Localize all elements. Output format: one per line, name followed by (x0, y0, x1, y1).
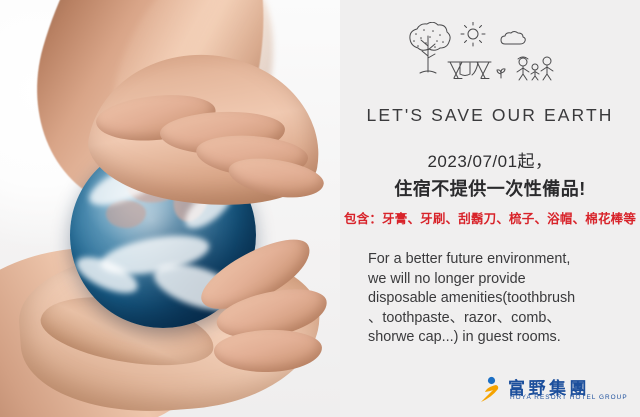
sun-icon (461, 22, 485, 46)
english-line: disposable amenities(toothbrush (368, 289, 636, 309)
tree-icon (410, 22, 450, 73)
eco-scene-illustration (402, 22, 592, 94)
family-icon (517, 57, 553, 80)
announcement-items: 包含：牙膏、牙刷、刮鬍刀、梳子、浴帽、棉花棒等 (340, 208, 640, 227)
english-line: we will no longer provide (368, 270, 636, 290)
brand-logo: 富野集團 HOYA RESORT HOTEL GROUP (478, 374, 630, 408)
english-line: 、toothpaste、razor、comb、 (368, 309, 636, 329)
english-line: shorwe cap...) in guest rooms. (368, 328, 636, 348)
english-paragraph: For a better future environment, we will… (368, 250, 636, 348)
hands-earth-photo (0, 0, 340, 417)
cloud-icon (501, 32, 525, 45)
announcement-policy: 住宿不提供一次性備品! (340, 175, 640, 201)
announcement-date: 2023/07/01起， (340, 147, 640, 172)
page-title: LET'S SAVE OUR EARTH (340, 105, 640, 126)
hoya-figure-icon (478, 376, 504, 404)
logo-english-name: HOYA RESORT HOTEL GROUP (510, 394, 628, 401)
message-panel: LET'S SAVE OUR EARTH 2023/07/01起， 住宿不提供一… (340, 0, 640, 417)
swing-set-icon (448, 62, 491, 79)
poster-root: LET'S SAVE OUR EARTH 2023/07/01起， 住宿不提供一… (0, 0, 640, 417)
plant-icon (497, 69, 505, 78)
english-line: For a better future environment, (368, 250, 636, 270)
